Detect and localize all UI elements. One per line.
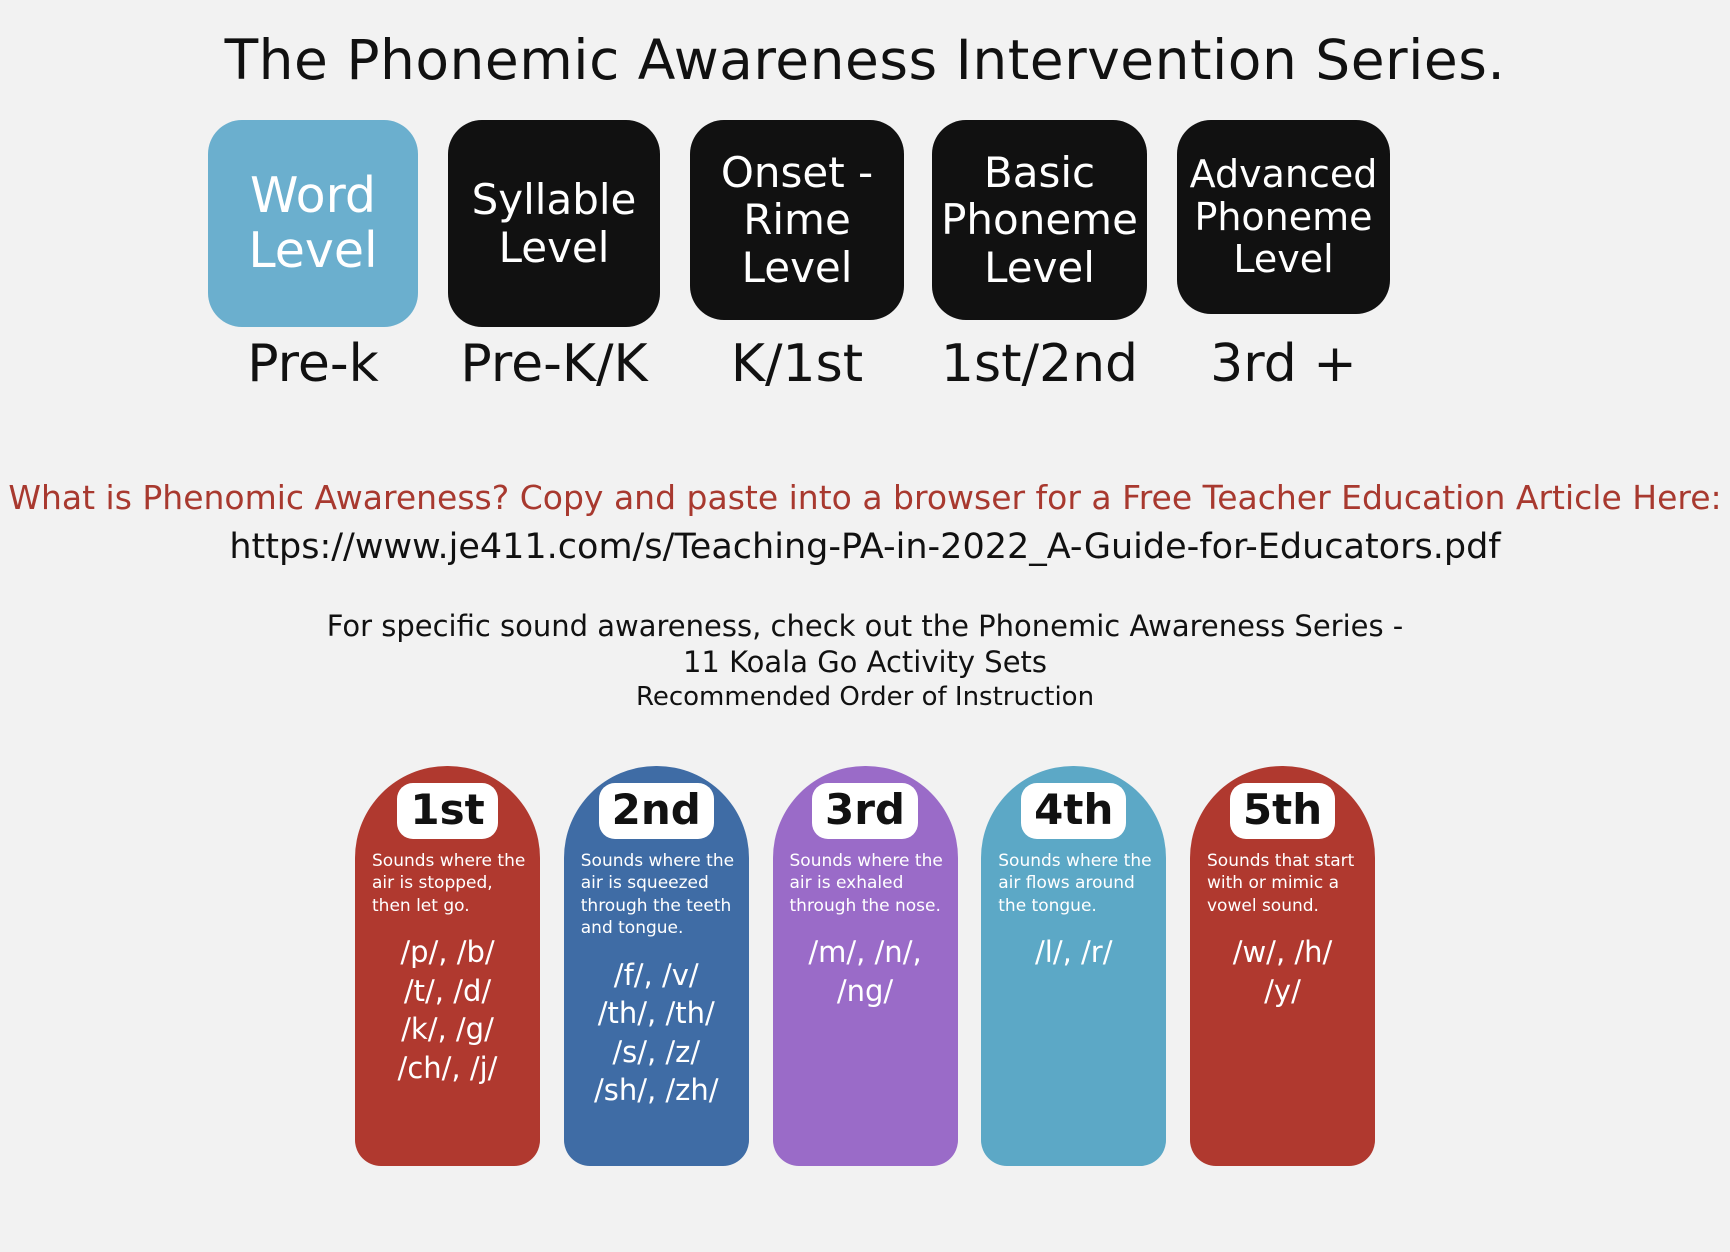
order-card-sound-line: /m/, /n/, (786, 933, 945, 972)
order-card-description: Sounds where the air is exhaled through … (786, 850, 945, 917)
order-card-sounds: /m/, /n/,/ng/ (786, 933, 945, 1010)
order-card-sounds: /p/, /b//t/, /d//k/, /g//ch/, /j/ (368, 933, 527, 1087)
order-card-1[interactable]: 1stSounds where the air is stopped, then… (355, 766, 540, 1166)
level-box-label: Word Level (218, 169, 408, 279)
page-title: The Phonemic Awareness Intervention Seri… (0, 28, 1730, 92)
order-card-sound-line: /sh/, /zh/ (577, 1071, 736, 1110)
order-card-5[interactable]: 5thSounds that start with or mimic a vow… (1190, 766, 1375, 1166)
level-column-4: Basic Phoneme Level (932, 120, 1147, 320)
order-card-4[interactable]: 4thSounds where the air flows around the… (981, 766, 1166, 1166)
promo-url[interactable]: https://www.je411.com/s/Teaching-PA-in-2… (0, 527, 1730, 567)
order-card-sound-line: /y/ (1203, 972, 1362, 1011)
grade-labels-row: Pre-kPre-K/KK/1st1st/2nd3rd + (208, 338, 1538, 408)
paragraph-line-1: For specific sound awareness, check out … (0, 610, 1730, 642)
level-column-5: Advanced Phoneme Level (1177, 120, 1390, 314)
level-box-5[interactable]: Advanced Phoneme Level (1177, 120, 1390, 314)
order-card-rank-badge: 3rd (812, 783, 918, 839)
level-box-label: Basic Phoneme Level (941, 149, 1138, 290)
grade-label-3: K/1st (690, 338, 904, 408)
level-box-label: Onset - Rime Level (700, 149, 894, 290)
order-card-description: Sounds where the air is stopped, then le… (368, 850, 527, 917)
level-box-label: Advanced Phoneme Level (1187, 153, 1380, 281)
order-card-sounds: /l/, /r/ (994, 933, 1153, 972)
level-box-4[interactable]: Basic Phoneme Level (932, 120, 1147, 320)
series-paragraph: For specific sound awareness, check out … (0, 610, 1730, 712)
level-column-2: Syllable Level (448, 120, 660, 327)
infographic-page: The Phonemic Awareness Intervention Seri… (0, 0, 1730, 1252)
level-boxes-row: Word LevelSyllable LevelOnset - Rime Lev… (208, 120, 1538, 340)
order-card-description: Sounds that start with or mimic a vowel … (1203, 850, 1362, 917)
order-card-sound-line: /th/, /th/ (577, 994, 736, 1033)
order-card-sound-line: /l/, /r/ (994, 933, 1153, 972)
order-card-description: Sounds where the air is squeezed through… (577, 850, 736, 940)
promo-question: What is Phenomic Awareness? Copy and pas… (0, 478, 1730, 517)
order-card-sound-line: /f/, /v/ (577, 956, 736, 995)
order-card-sound-line: /ch/, /j/ (368, 1049, 527, 1088)
level-box-label: Syllable Level (458, 176, 650, 270)
paragraph-line-3: Recommended Order of Instruction (0, 683, 1730, 712)
order-card-description: Sounds where the air flows around the to… (994, 850, 1153, 917)
level-box-1[interactable]: Word Level (208, 120, 418, 327)
order-card-rank-badge: 5th (1230, 783, 1335, 839)
order-card-sounds: /w/, /h//y/ (1203, 933, 1362, 1010)
level-box-2[interactable]: Syllable Level (448, 120, 660, 327)
order-card-sounds: /f/, /v//th/, /th//s/, /z//sh/, /zh/ (577, 956, 736, 1110)
grade-label-2: Pre-K/K (448, 338, 660, 408)
grade-label-1: Pre-k (208, 338, 418, 408)
order-card-sound-line: /s/, /z/ (577, 1033, 736, 1072)
paragraph-line-2: 11 Koala Go Activity Sets (0, 646, 1730, 678)
order-card-3[interactable]: 3rdSounds where the air is exhaled throu… (773, 766, 958, 1166)
grade-label-4: 1st/2nd (932, 338, 1147, 408)
order-card-rank-badge: 4th (1021, 783, 1126, 839)
grade-label-5: 3rd + (1177, 338, 1390, 408)
order-card-2[interactable]: 2ndSounds where the air is squeezed thro… (564, 766, 749, 1166)
level-box-3[interactable]: Onset - Rime Level (690, 120, 904, 320)
order-card-sound-line: /k/, /g/ (368, 1010, 527, 1049)
order-card-sound-line: /p/, /b/ (368, 933, 527, 972)
order-card-sound-line: /ng/ (786, 972, 945, 1011)
order-card-rank-badge: 2nd (599, 783, 714, 839)
level-column-1: Word Level (208, 120, 418, 327)
order-card-sound-line: /t/, /d/ (368, 972, 527, 1011)
order-card-rank-badge: 1st (397, 783, 497, 839)
order-cards-row: 1stSounds where the air is stopped, then… (355, 766, 1375, 1166)
order-card-sound-line: /w/, /h/ (1203, 933, 1362, 972)
level-column-3: Onset - Rime Level (690, 120, 904, 320)
